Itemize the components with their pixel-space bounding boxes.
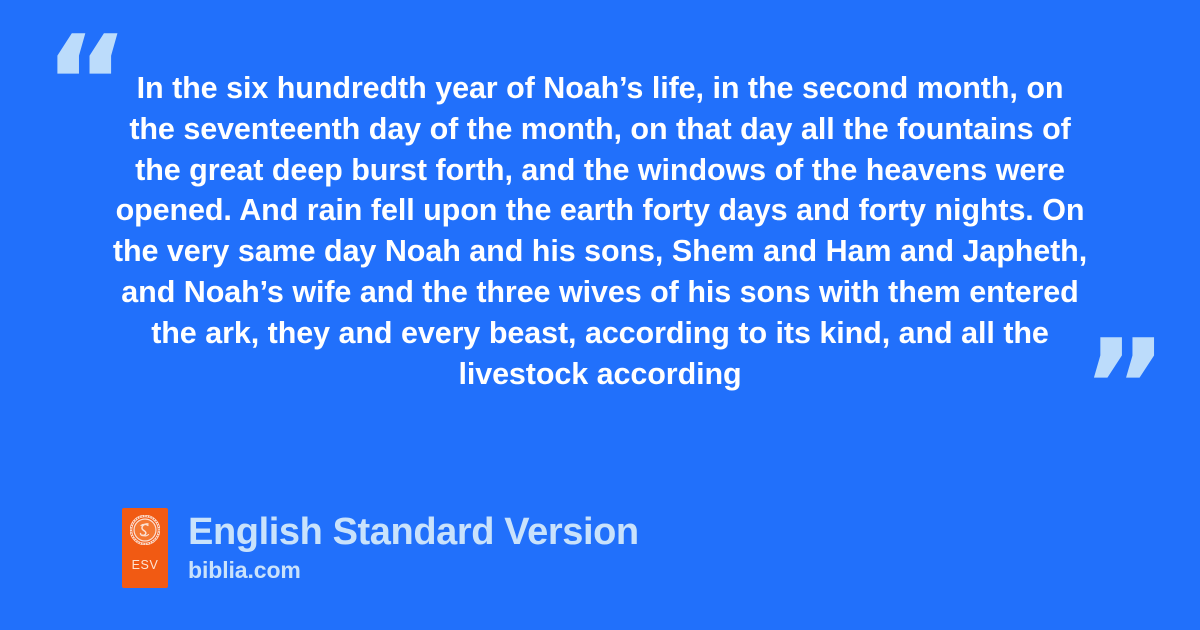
esv-seal-icon <box>130 515 160 545</box>
bible-translation-name: English Standard Version <box>188 509 639 555</box>
esv-logo-abbreviation: ESV <box>132 559 159 572</box>
esv-logo-badge[interactable]: ESV <box>122 508 168 588</box>
attribution-labels: English Standard Version biblia.com <box>188 508 639 584</box>
quote-card: “ In the six hundredth year of Noah’s li… <box>0 0 1200 630</box>
source-site-url[interactable]: biblia.com <box>188 556 639 584</box>
scripture-quote-text: In the six hundredth year of Noah’s life… <box>110 68 1090 394</box>
attribution-footer: ESV English Standard Version biblia.com <box>122 508 639 588</box>
closing-quote-mark: ” <box>1082 322 1165 452</box>
